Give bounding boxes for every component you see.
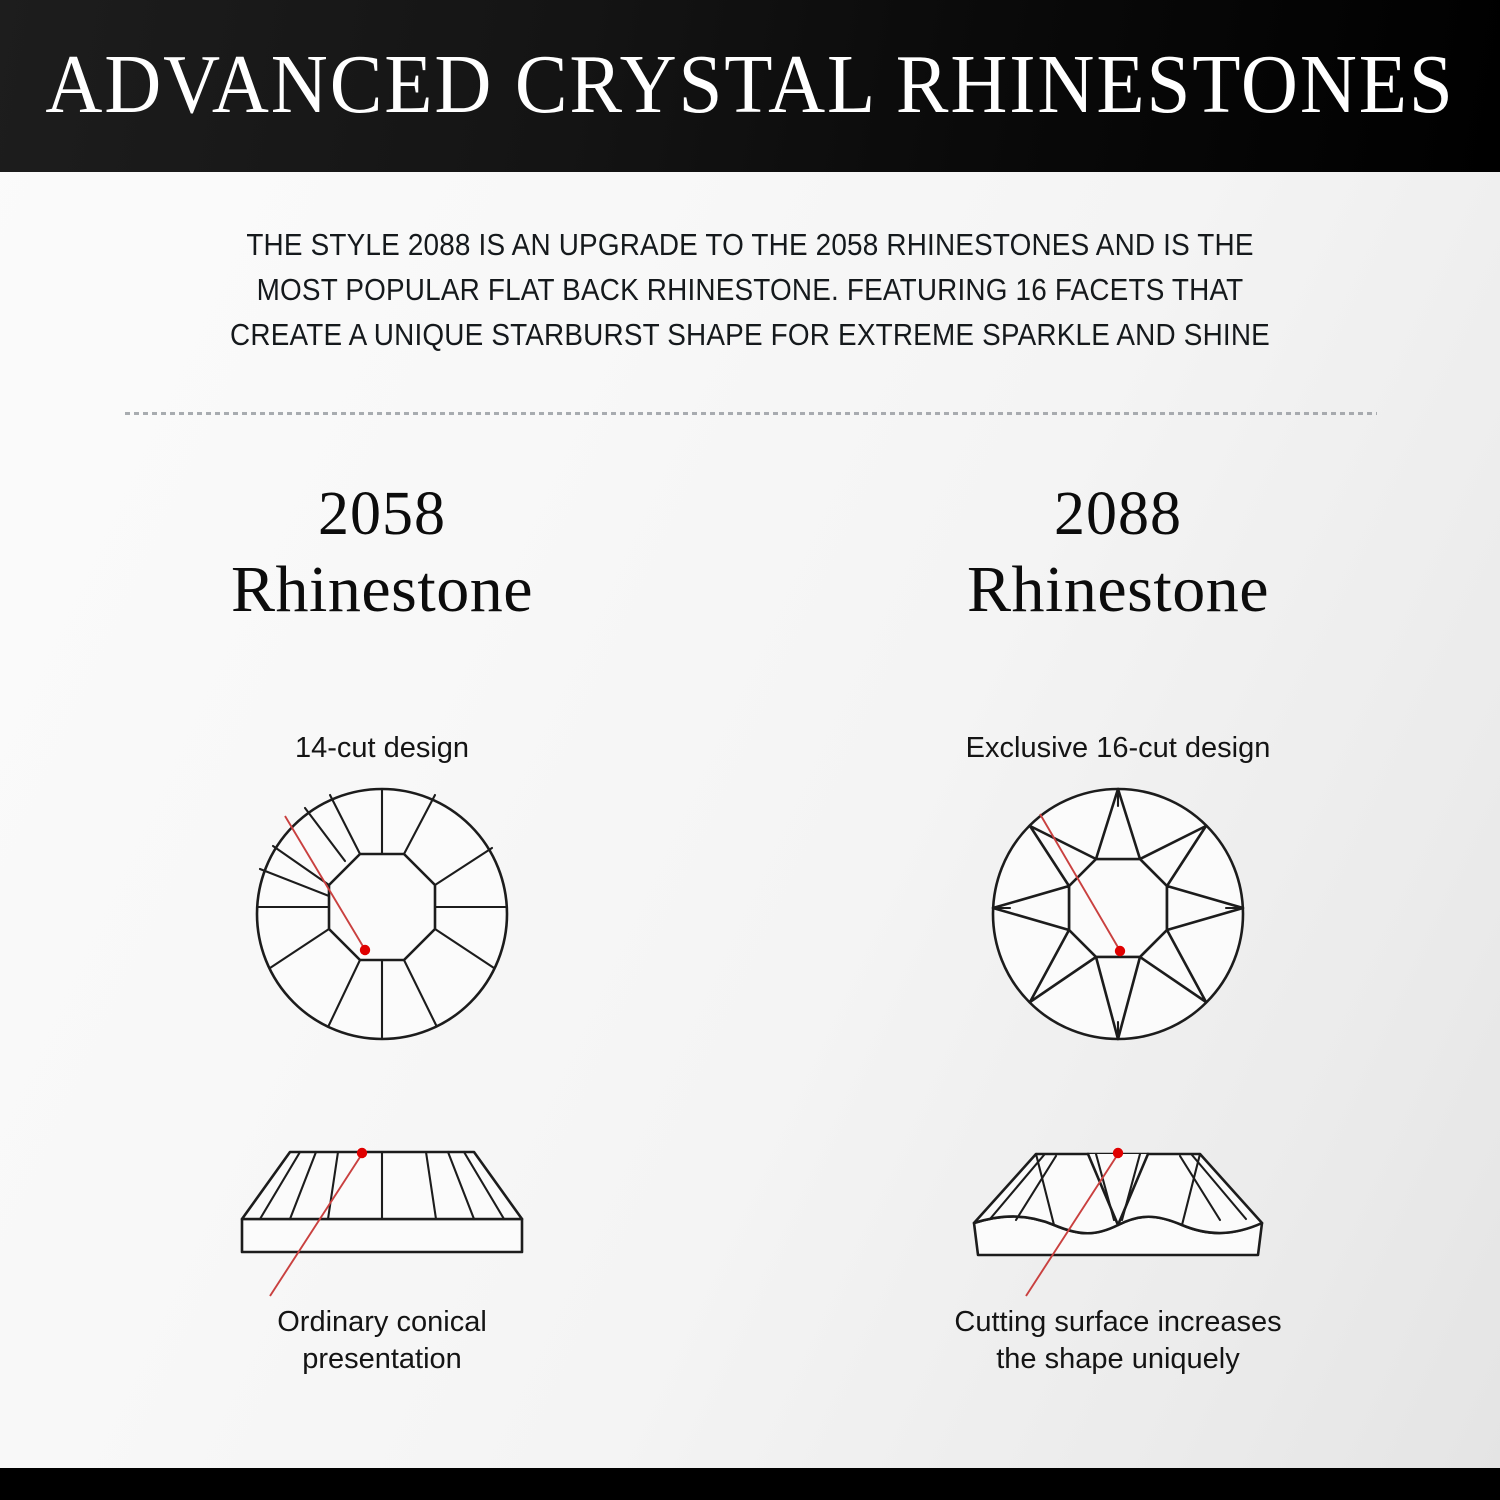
dotted-divider	[125, 412, 1377, 415]
leader-dot-2088-side	[1113, 1148, 1123, 1158]
poster-canvas: ADVANCED CRYSTAL RHINESTONES THE STYLE 2…	[0, 0, 1500, 1500]
intro-line-3: CREATE A UNIQUE STARBURST SHAPE FOR EXTR…	[183, 312, 1317, 357]
label-14-cut-design: 14-cut design	[42, 730, 722, 766]
leader-dot-2058-top	[360, 945, 370, 955]
heading-2058: 2058 Rhinestone	[42, 478, 722, 630]
intro-line-1: THE STYLE 2088 IS AN UPGRADE TO THE 2058…	[183, 222, 1317, 267]
heading-2058-word: Rhinestone	[42, 550, 722, 630]
caption-2058: Ordinary conical presentation	[42, 1304, 722, 1378]
column-2058: 2058 Rhinestone 14-cut design	[42, 478, 722, 1378]
intro-paragraph: THE STYLE 2088 IS AN UPGRADE TO THE 2058…	[120, 222, 1380, 357]
label-16-cut-design: Exclusive 16-cut design	[778, 730, 1458, 766]
caption-2088-line-1: Cutting surface increases	[778, 1304, 1458, 1341]
leader-dot-2058-side	[357, 1148, 367, 1158]
footer-bar	[0, 1468, 1500, 1500]
caption-2088-line-2: the shape uniquely	[778, 1341, 1458, 1378]
heading-2088-number: 2088	[778, 478, 1458, 550]
page-title: ADVANCED CRYSTAL RHINESTONES	[45, 37, 1455, 133]
header-banner: ADVANCED CRYSTAL RHINESTONES	[0, 0, 1500, 172]
figure-2058-side-view	[42, 1124, 722, 1304]
caption-2058-line-2: presentation	[42, 1341, 722, 1378]
figure-2088-side-view	[778, 1124, 1458, 1304]
caption-2088: Cutting surface increases the shape uniq…	[778, 1304, 1458, 1378]
figure-2058-top-view	[42, 766, 722, 1066]
rhinestone-2088-side-diagram	[974, 1148, 1262, 1296]
rhinestone-2058-top-diagram	[257, 789, 507, 1039]
column-2088: 2088 Rhinestone Exclusive 16-cut design	[778, 478, 1458, 1378]
figure-2088-top-view	[778, 766, 1458, 1066]
heading-2058-number: 2058	[42, 478, 722, 550]
intro-line-2: MOST POPULAR FLAT BACK RHINESTONE. FEATU…	[183, 267, 1317, 312]
heading-2088-word: Rhinestone	[778, 550, 1458, 630]
leader-dot-2088-top	[1115, 946, 1125, 956]
rhinestone-2088-top-diagram	[993, 789, 1243, 1039]
rhinestone-2058-side-diagram	[242, 1148, 522, 1296]
caption-2058-line-1: Ordinary conical	[42, 1304, 722, 1341]
heading-2088: 2088 Rhinestone	[778, 478, 1458, 630]
